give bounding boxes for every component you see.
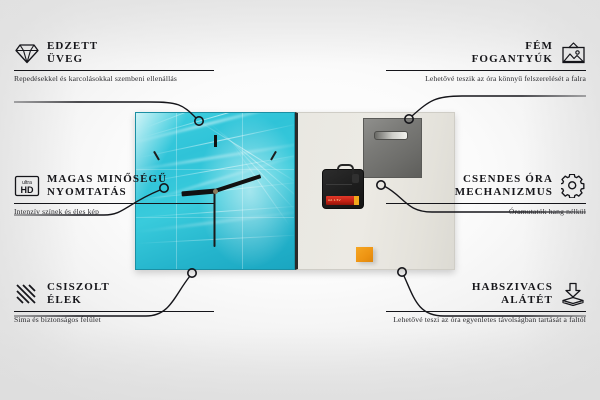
polished-edge-icon [14, 282, 40, 306]
diamond-icon [14, 41, 40, 65]
battery: AA 1.5V [326, 196, 359, 205]
feature-hd-print: ultra HD MAGAS MINŐSÉGŰ NYOMTATÁS Intenz… [14, 173, 214, 217]
feature-divider [386, 70, 586, 71]
gear-icon [560, 174, 586, 198]
infographic-canvas: AA 1.5V [0, 0, 600, 400]
feature-description: Repedésekkel és karcolásokkal szembeni e… [14, 74, 214, 84]
feature-title: MAGAS MINŐSÉGŰ NYOMTATÁS [47, 173, 167, 199]
feature-metal-handles: FÉM FOGANTYÚK Lehetővé teszik az óra kön… [386, 40, 586, 84]
feature-description: Intenzív színek és éles kép [14, 207, 214, 217]
picture-hanger-icon [560, 41, 586, 65]
feature-divider [14, 311, 214, 312]
feature-description: Óramutatók hang nélkül [386, 207, 586, 217]
feature-title: FÉM FOGANTYÚK [472, 40, 553, 66]
feature-title: CSENDES ÓRA MECHANIZMUS [455, 173, 553, 199]
battery-cap [354, 196, 359, 205]
hanger-slot [374, 131, 408, 140]
feature-description: Lehetővé teszi az óra egyenletes távolsá… [386, 315, 586, 325]
feature-title: EDZETT ÜVEG [47, 40, 98, 66]
feature-title: CSISZOLT ÉLEK [47, 281, 110, 307]
mechanism-adjust-knob [352, 174, 359, 183]
feature-title: HABSZIVACS ALÁTÉT [472, 281, 553, 307]
feature-description: Lehetővé teszik az óra könnyű felszerelé… [386, 74, 586, 84]
feature-polished-edges: CSISZOLT ÉLEK Sima és biztonságos felüle… [14, 281, 214, 325]
feature-description: Sima és biztonságos felület [14, 315, 214, 325]
foam-spacer-icon [560, 282, 586, 306]
metal-hanger-plate [363, 118, 422, 178]
clock-mechanism-box: AA 1.5V [322, 169, 364, 209]
feature-divider [386, 311, 586, 312]
feature-quiet-movement: CSENDES ÓRA MECHANIZMUS Óramutatók hang … [386, 173, 586, 217]
feature-foam-pad: HABSZIVACS ALÁTÉT Lehetővé teszi az óra … [386, 281, 586, 325]
feature-divider [386, 203, 586, 204]
feature-tempered-glass: EDZETT ÜVEG Repedésekkel és karcolásokka… [14, 40, 214, 84]
battery-label: AA 1.5V [328, 198, 341, 202]
ultra-hd-badge-icon: ultra HD [14, 174, 40, 198]
feature-divider [14, 70, 214, 71]
mechanism-hanging-loop [337, 164, 354, 174]
foam-spacer-pad [356, 247, 373, 262]
connector-dot-polished-edges [188, 269, 196, 277]
feature-divider [14, 203, 214, 204]
svg-text:HD: HD [21, 185, 34, 195]
mechanism-seam [326, 184, 352, 185]
